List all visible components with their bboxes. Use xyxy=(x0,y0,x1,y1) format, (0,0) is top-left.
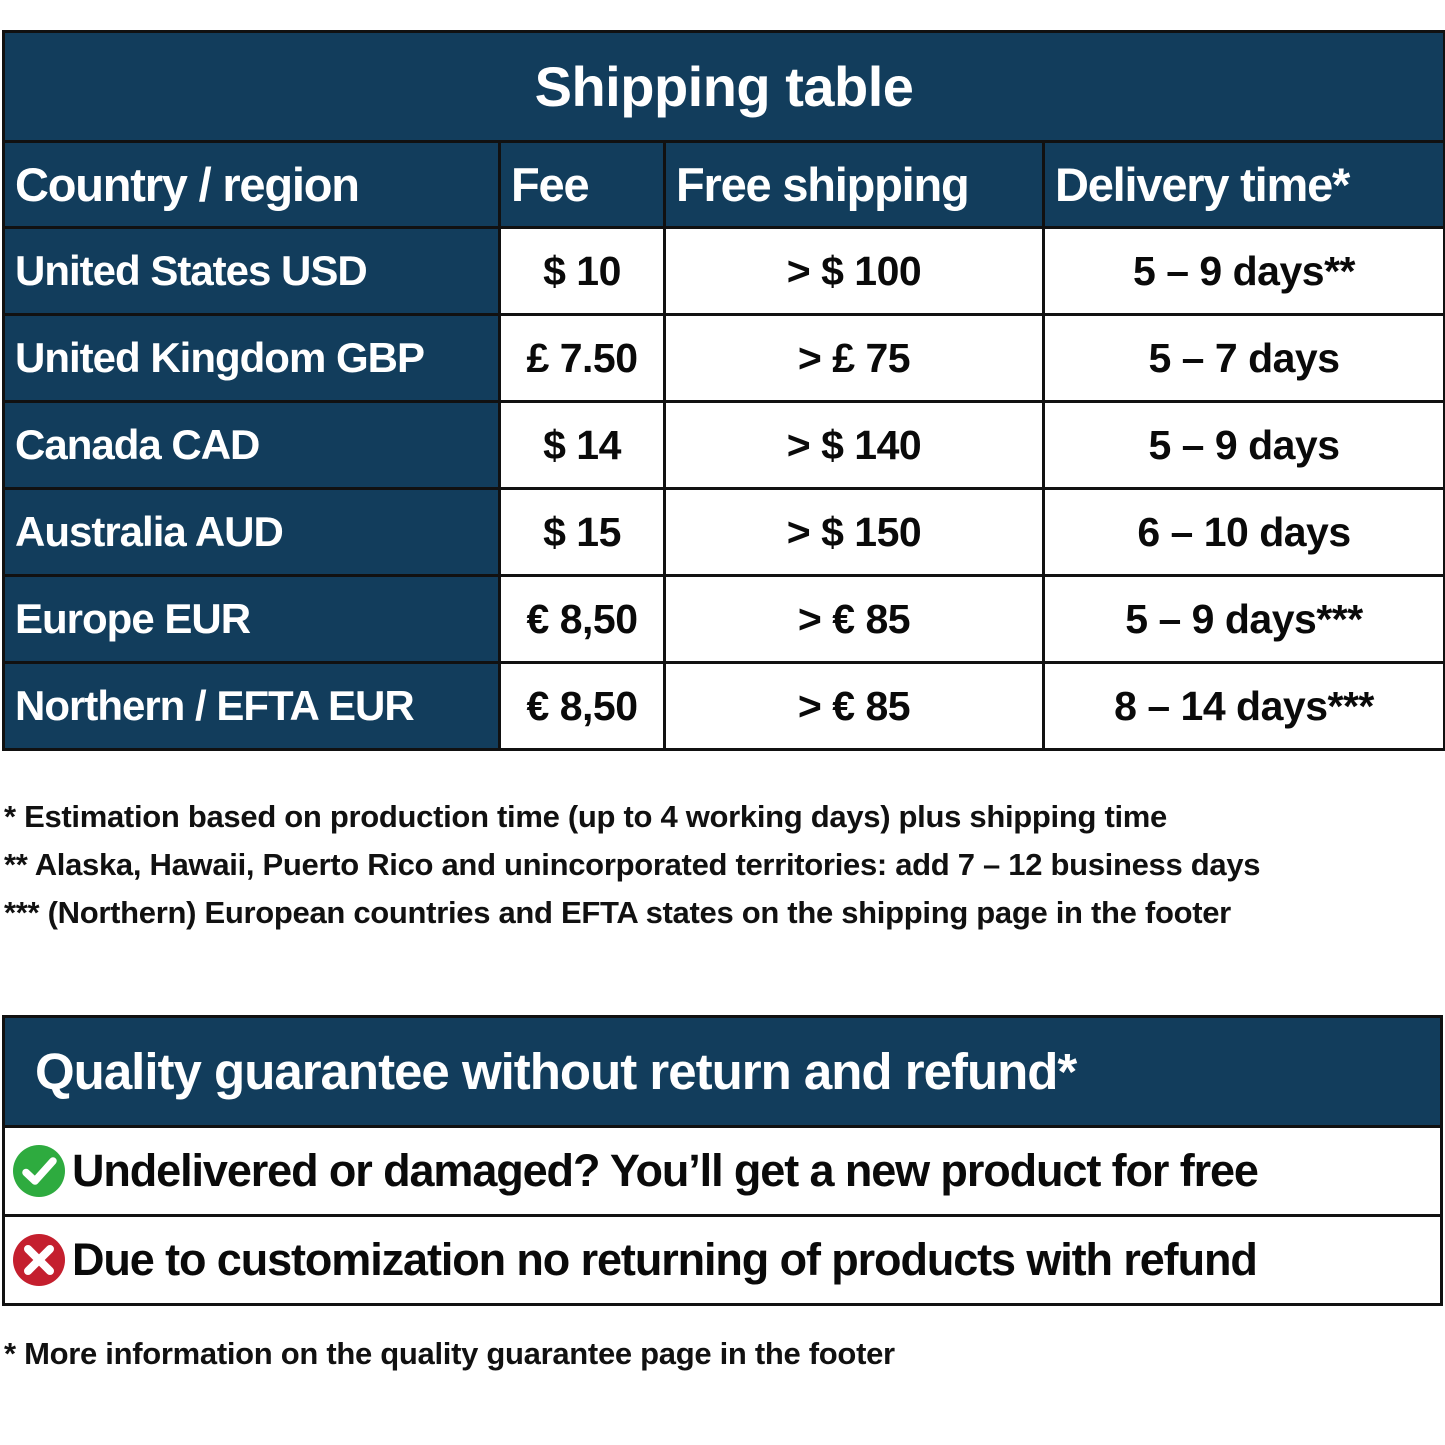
cell-fee: £ 7.50 xyxy=(500,315,665,402)
cell-country: Canada CAD xyxy=(4,402,500,489)
cell-delivery-time: 5 – 7 days xyxy=(1044,315,1445,402)
cell-free-shipping: > $ 150 xyxy=(665,489,1044,576)
table-row: Australia AUD $ 15 > $ 150 6 – 10 days xyxy=(4,489,1445,576)
quality-text-negative: Due to customization no returning of pro… xyxy=(72,1234,1257,1286)
table-row: United States USD $ 10 > $ 100 5 – 9 day… xyxy=(4,228,1445,315)
cell-country: Australia AUD xyxy=(4,489,500,576)
column-header-country: Country / region xyxy=(4,142,500,228)
cell-delivery-time: 5 – 9 days** xyxy=(1044,228,1445,315)
shipping-info-page: Shipping table Country / region Fee Free… xyxy=(0,0,1445,1445)
table-row: United Kingdom GBP £ 7.50 > £ 75 5 – 7 d… xyxy=(4,315,1445,402)
quality-guarantee-title: Quality guarantee without return and ref… xyxy=(4,1017,1442,1127)
shipping-table-header-row: Country / region Fee Free shipping Deliv… xyxy=(4,142,1445,228)
column-header-free-shipping: Free shipping xyxy=(665,142,1044,228)
cell-fee: $ 15 xyxy=(500,489,665,576)
quality-guarantee-footnote: * More information on the quality guaran… xyxy=(4,1336,895,1372)
shipping-table-title-row: Shipping table xyxy=(4,32,1445,142)
column-header-delivery-time: Delivery time* xyxy=(1044,142,1445,228)
footnote-estimation: * Estimation based on production time (u… xyxy=(4,793,1441,841)
quality-row-negative: Due to customization no returning of pro… xyxy=(4,1216,1442,1305)
cell-fee: € 8,50 xyxy=(500,663,665,750)
cell-fee: € 8,50 xyxy=(500,576,665,663)
cross-circle-icon xyxy=(11,1232,67,1288)
column-header-fee: Fee xyxy=(500,142,665,228)
quality-text-positive: Undelivered or damaged? You’ll get a new… xyxy=(72,1145,1258,1197)
cell-free-shipping: > £ 75 xyxy=(665,315,1044,402)
cell-free-shipping: > $ 140 xyxy=(665,402,1044,489)
shipping-table: Shipping table Country / region Fee Free… xyxy=(2,30,1445,751)
footnote-alaska: ** Alaska, Hawaii, Puerto Rico and uninc… xyxy=(4,841,1441,889)
quality-guarantee-container: Quality guarantee without return and ref… xyxy=(2,1015,1443,1306)
cell-free-shipping: > € 85 xyxy=(665,663,1044,750)
shipping-table-title: Shipping table xyxy=(4,32,1445,142)
cell-country: United Kingdom GBP xyxy=(4,315,500,402)
list-item: Due to customization no returning of pro… xyxy=(4,1216,1442,1305)
table-row: Europe EUR € 8,50 > € 85 5 – 9 days*** xyxy=(4,576,1445,663)
shipping-footnotes: * Estimation based on production time (u… xyxy=(4,793,1441,937)
cell-free-shipping: > € 85 xyxy=(665,576,1044,663)
cell-fee: $ 14 xyxy=(500,402,665,489)
footnote-europe: *** (Northern) European countries and EF… xyxy=(4,889,1441,937)
cell-country: Northern / EFTA EUR xyxy=(4,663,500,750)
cell-delivery-time: 5 – 9 days xyxy=(1044,402,1445,489)
cell-fee: $ 10 xyxy=(500,228,665,315)
cell-country: United States USD xyxy=(4,228,500,315)
shipping-table-container: Shipping table Country / region Fee Free… xyxy=(2,30,1443,751)
quality-guarantee-table: Quality guarantee without return and ref… xyxy=(2,1015,1443,1306)
table-row: Canada CAD $ 14 > $ 140 5 – 9 days xyxy=(4,402,1445,489)
cell-delivery-time: 6 – 10 days xyxy=(1044,489,1445,576)
cell-delivery-time: 5 – 9 days*** xyxy=(1044,576,1445,663)
list-item: Undelivered or damaged? You’ll get a new… xyxy=(4,1127,1442,1216)
check-circle-icon xyxy=(11,1143,67,1199)
quality-row-positive: Undelivered or damaged? You’ll get a new… xyxy=(4,1127,1442,1216)
cell-free-shipping: > $ 100 xyxy=(665,228,1044,315)
cell-country: Europe EUR xyxy=(4,576,500,663)
quality-title-row: Quality guarantee without return and ref… xyxy=(4,1017,1442,1127)
table-row: Northern / EFTA EUR € 8,50 > € 85 8 – 14… xyxy=(4,663,1445,750)
cell-delivery-time: 8 – 14 days*** xyxy=(1044,663,1445,750)
